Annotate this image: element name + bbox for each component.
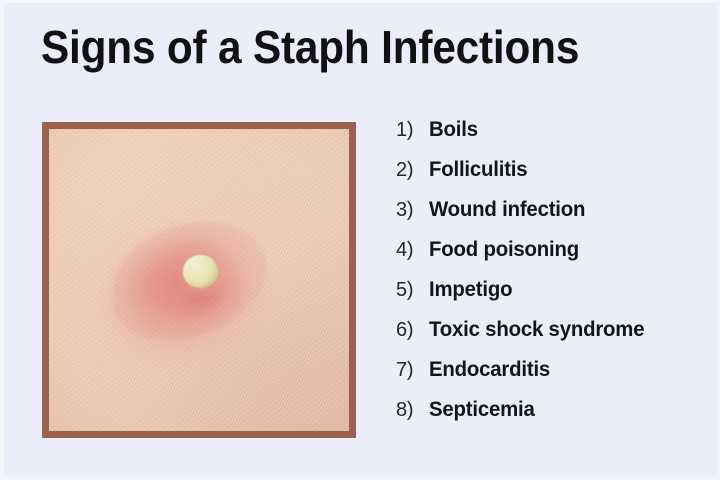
canvas-edge-bottom xyxy=(0,475,720,480)
list-item: 4) Food poisoning xyxy=(396,238,696,278)
list-item-number: 2) xyxy=(396,159,429,182)
list-item: 2) Folliculitis xyxy=(396,158,696,198)
poster-canvas: Signs of a Staph Infections 1) Boils 2) … xyxy=(0,0,720,480)
lesion-photo-frame xyxy=(42,122,356,438)
list-item-number: 4) xyxy=(396,239,429,262)
list-item: 5) Impetigo xyxy=(396,278,696,318)
canvas-edge-left xyxy=(0,0,4,480)
lesion-photo xyxy=(49,129,349,431)
list-item: 6) Toxic shock syndrome xyxy=(396,318,696,358)
list-item-label: Food poisoning xyxy=(429,238,579,262)
list-item-label: Wound infection xyxy=(429,198,585,222)
list-item-label: Septicemia xyxy=(429,398,535,422)
symptom-list: 1) Boils 2) Folliculitis 3) Wound infect… xyxy=(396,118,696,438)
list-item-label: Impetigo xyxy=(429,278,512,302)
list-item-number: 3) xyxy=(396,199,429,222)
list-item-label: Endocarditis xyxy=(429,358,550,382)
list-item-number: 8) xyxy=(396,399,429,422)
list-item-label: Boils xyxy=(429,118,478,142)
list-item: 3) Wound infection xyxy=(396,198,696,238)
list-item-number: 5) xyxy=(396,279,429,302)
canvas-edge-top xyxy=(0,0,720,3)
list-item-label: Folliculitis xyxy=(429,158,527,182)
list-item: 1) Boils xyxy=(396,118,696,158)
list-item-number: 6) xyxy=(396,319,429,342)
list-item: 8) Septicemia xyxy=(396,398,696,438)
list-item-number: 7) xyxy=(396,359,429,382)
page-title: Signs of a Staph Infections xyxy=(41,17,637,79)
pustule-head xyxy=(183,255,218,288)
list-item-number: 1) xyxy=(396,119,429,142)
list-item-label: Toxic shock syndrome xyxy=(429,318,644,342)
list-item: 7) Endocarditis xyxy=(396,358,696,398)
